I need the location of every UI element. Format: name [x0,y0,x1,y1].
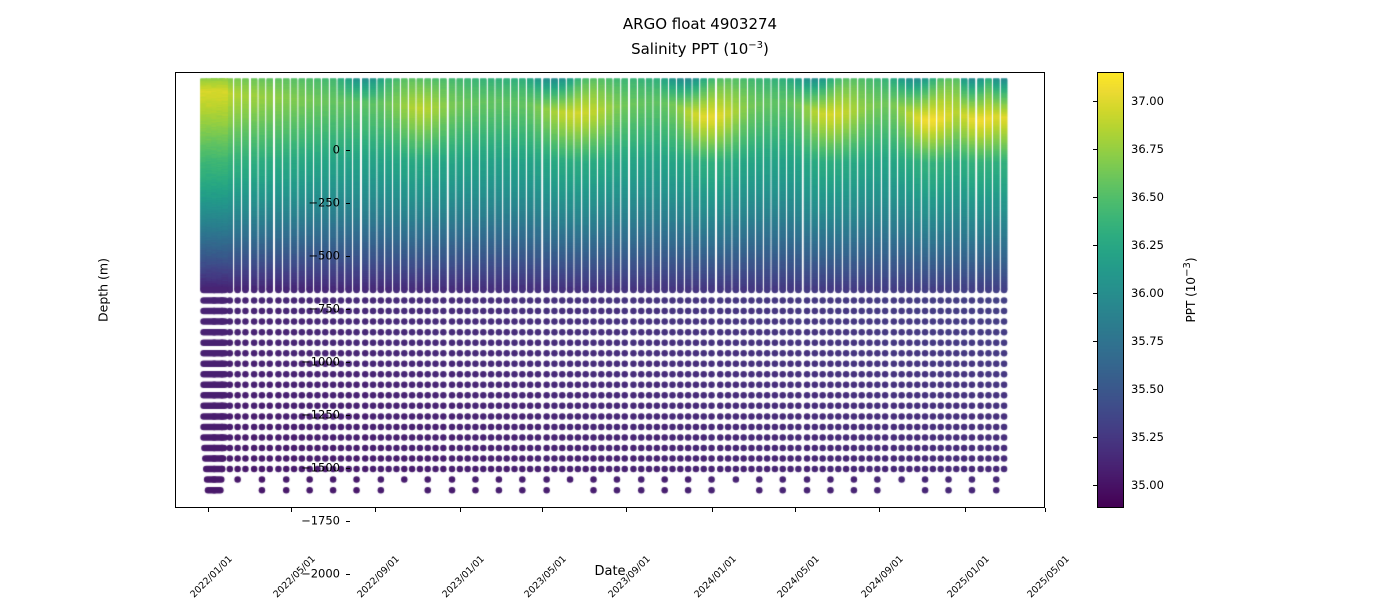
y-tick-label: −1500 [180,462,340,473]
y-tick-label: −250 [180,198,340,209]
x-tick-mark [626,508,627,512]
colorbar-tick-mark [1093,389,1097,390]
salinity-profile-scatter [176,73,1044,507]
colorbar-tick-label: 36.25 [1131,238,1164,252]
x-axis-label: Date [594,564,625,579]
colorbar [1097,72,1124,508]
x-tick-mark [542,508,543,512]
x-tick-mark [1045,508,1046,512]
colorbar-tick-label: 36.50 [1131,190,1164,204]
x-tick-mark [712,508,713,512]
colorbar-tick-mark [1093,341,1097,342]
y-tick-label: −500 [180,251,340,262]
colorbar-tick-mark [1093,101,1097,102]
colorbar-gradient [1098,73,1123,507]
y-tick-mark [346,256,350,257]
plot-axes [175,72,1045,508]
x-tick-label: 2023/05/01 [523,554,570,600]
x-tick-mark [375,508,376,512]
x-tick-mark [965,508,966,512]
colorbar-tick-label: 36.75 [1131,142,1164,156]
colorbar-tick-mark [1093,437,1097,438]
y-tick-label: −1000 [180,357,340,368]
colorbar-tick-label: 37.00 [1131,94,1164,108]
y-tick-label: −1750 [180,515,340,526]
x-tick-label: 2024/09/01 [860,554,907,600]
x-tick-label: 2022/09/01 [355,554,402,600]
colorbar-tick-mark [1093,245,1097,246]
x-tick-label: 2025/05/01 [1025,554,1072,600]
title-line-variable: Salinity PPT (10−3) [0,35,1400,60]
x-tick-mark [879,508,880,512]
colorbar-label-prefix: PPT (10 [1184,277,1198,323]
title-line-float: ARGO float 4903274 [0,14,1400,35]
x-tick-label: 2025/01/01 [946,554,993,600]
colorbar-tick-label: 35.50 [1131,382,1164,396]
figure-root: ARGO float 4903274 Salinity PPT (10−3) D… [0,0,1400,600]
y-axis-label: Depth (m) [96,258,111,322]
y-tick-label: −1250 [180,409,340,420]
x-tick-mark [291,508,292,512]
y-tick-mark [346,362,350,363]
title-variable-suffix: ) [763,40,769,58]
colorbar-tick-label: 35.75 [1131,334,1164,348]
y-tick-mark [346,150,350,151]
colorbar-tick-mark [1093,485,1097,486]
y-tick-mark [346,309,350,310]
colorbar-label: PPT (10−3) [1182,257,1198,322]
colorbar-tick-label: 35.00 [1131,478,1164,492]
title-variable-exponent: −3 [748,40,763,51]
figure-title: ARGO float 4903274 Salinity PPT (10−3) [0,14,1400,60]
colorbar-tick-label: 36.00 [1131,286,1164,300]
colorbar-tick-mark [1093,197,1097,198]
x-tick-mark [460,508,461,512]
colorbar-tick-mark [1093,149,1097,150]
colorbar-label-suffix: ) [1184,257,1198,262]
y-tick-label: −750 [180,304,340,315]
x-tick-mark [208,508,209,512]
y-tick-mark [346,203,350,204]
y-tick-mark [346,415,350,416]
x-tick-label: 2024/05/01 [775,554,822,600]
colorbar-tick-label: 35.25 [1131,430,1164,444]
x-tick-label: 2023/01/01 [440,554,487,600]
title-variable-prefix: Salinity PPT (10 [631,40,748,58]
colorbar-label-exponent: −3 [1182,262,1193,277]
x-tick-label: 2024/01/01 [693,554,740,600]
y-tick-label: 0 [180,145,340,156]
y-tick-mark [346,574,350,575]
x-tick-mark [795,508,796,512]
y-tick-mark [346,521,350,522]
colorbar-tick-mark [1093,293,1097,294]
y-tick-mark [346,468,350,469]
